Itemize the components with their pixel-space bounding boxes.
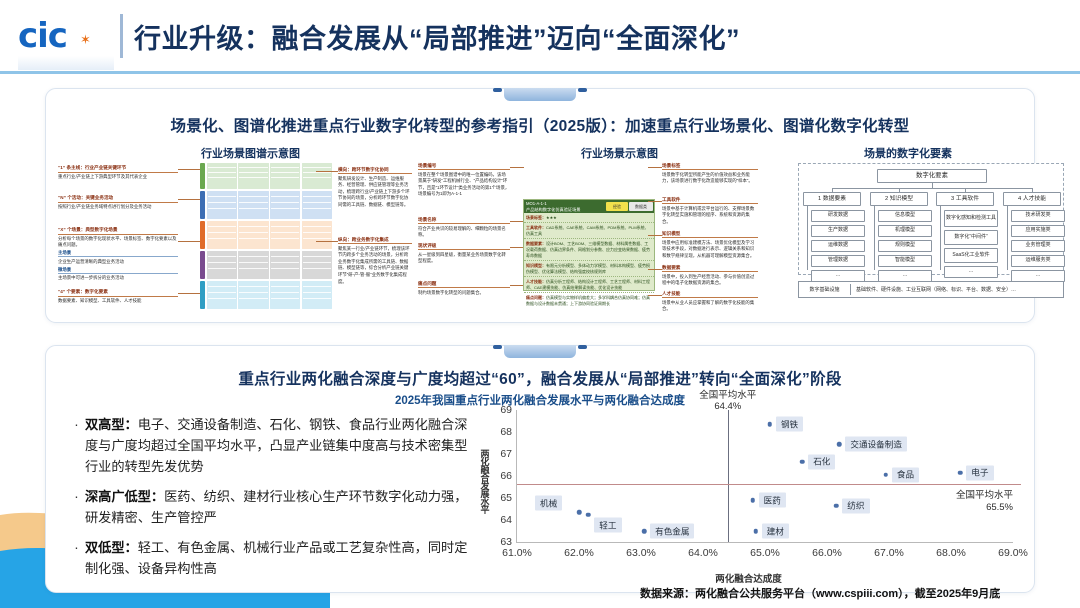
scenario-attr-row: 数据要素：设计BOM、工艺BOM、三维模型数据、材料属性数据、工况载荷数据、仿真… bbox=[524, 239, 654, 261]
chart-data-point[interactable] bbox=[586, 512, 591, 517]
spec-block: “4” 个要素：数字化要素 数据要素、知识模型、工具软件、人才技能 bbox=[58, 289, 178, 304]
scenario-name: 产品结构数字化仿真验证场景 bbox=[526, 207, 580, 213]
chart-data-point[interactable] bbox=[884, 473, 889, 478]
callout-heading: 工具软件 bbox=[662, 197, 758, 204]
bullet-list: · 双高型：电子、交通设备制造、石化、钢铁、食品行业两化融合深度与广度均超过全国… bbox=[68, 414, 473, 588]
figure-scenario-card: 场景编号 场景在整个场景图谱中的唯一位置编码，该场景属于“研发”工程机械行业、“… bbox=[418, 161, 758, 311]
tree-leaf: 研发数据 bbox=[811, 210, 865, 222]
chart-point-label: 电子 bbox=[966, 465, 993, 480]
chart-reference-line-vertical bbox=[728, 410, 729, 542]
callout-body: 场景数字化转型所能产生的价值效益和业务能力，该场景进行数字化改造能够实现的“样本… bbox=[662, 172, 758, 185]
header-divider bbox=[120, 14, 123, 58]
chart-y-tick: 68 bbox=[500, 426, 517, 438]
chart-x-tick: 64.0% bbox=[688, 542, 718, 559]
chart-x-tick: 62.0% bbox=[564, 542, 594, 559]
card-callout-left: 痛点问题 制约场景数字化转型的问题集合。 bbox=[418, 281, 510, 296]
chart-point-label: 钢铁 bbox=[776, 417, 803, 432]
chart-point-label: 机械 bbox=[535, 496, 562, 511]
scenario-attr-row: 痛点问题：仿真模型与实物样机偏差大；多学科耦合仿真协同难；仿真数据与设计数据未贯… bbox=[524, 293, 654, 308]
chart-y-axis-label: 两化融合发展水平 bbox=[478, 426, 492, 536]
tree-root: 数字化要素 bbox=[877, 169, 987, 183]
chart-reference-label-horizontal: 全国平均水平65.5% bbox=[956, 490, 1013, 513]
slide-root: cic ✶ 行业升级：融合发展从“局部推进”迈向“全面深化” 场景化、图谱化推进… bbox=[0, 0, 1080, 608]
note-body: 聚焦某一行业/产业链环节，梳理该环节内跨多个业务活动的场景，分析跨业务数字化集成… bbox=[338, 246, 412, 286]
chart-plot-area: 6364656667686961.0%62.0%63.0%64.0%65.0%6… bbox=[516, 410, 1013, 543]
spec-sub-body: 主场景中可进一步拆分的业务活动 bbox=[58, 275, 178, 281]
bullet-dot: · bbox=[68, 486, 85, 528]
chart-y-tick: 66 bbox=[500, 470, 517, 482]
tree-leaf: 生产数据 bbox=[811, 225, 865, 237]
scenario-chip-experience: 经验 bbox=[606, 202, 628, 211]
card-callout-right: 工具软件 场景中基于计算机或云平台运行的、支撑场景数字化转型实施和管理的程序、系… bbox=[662, 197, 758, 225]
callout-heading: 人才技能 bbox=[662, 291, 758, 298]
bullet-label: 双高型： bbox=[85, 417, 138, 432]
chart-data-point[interactable] bbox=[800, 459, 805, 464]
card-callout-left: 场景编号 场景在整个场景图谱中的唯一位置编码，该场景属于“研发”工程机械行业、“… bbox=[418, 163, 510, 198]
panel1-title: 场景化、图谱化推进重点行业数字化转型的参考指引（2025版）：加速重点行业场景化… bbox=[46, 114, 1034, 136]
scenario-card-header: MO1-A-1-1 产品结构数字化仿真验证场景 经验 数据类 bbox=[524, 200, 654, 213]
tree-leaf: … bbox=[944, 266, 998, 278]
card-callout-right: 场景标签 场景数字化转型所能产生的价值效益和业务能力，该场景进行数字化改造能够实… bbox=[662, 163, 758, 185]
logo-reflection bbox=[18, 56, 114, 70]
tree-leaf: 数字化“中间件” bbox=[944, 230, 998, 245]
chart-y-tick: 65 bbox=[500, 492, 517, 504]
chart-reference-line-horizontal bbox=[517, 484, 1021, 485]
matrix-row bbox=[200, 191, 332, 219]
spec-block: “N” 个活动：关键业务活动 按照行业/产业链业务域特点进行划分及业务活动 bbox=[58, 195, 178, 210]
callout-body: 场景在整个场景图谱中的唯一位置编码，该场景属于“研发”工程机械行业、“产品结构设… bbox=[418, 172, 510, 198]
spec-body: 按照行业/产业链业务域特点进行划分及业务活动 bbox=[58, 204, 178, 210]
bullet-text: 深高广低型：医药、纺织、建材行业核心生产环节数字化动力强，研发精密、生产管控严 bbox=[85, 486, 473, 528]
chart-point-label: 石化 bbox=[808, 454, 835, 469]
chart-x-axis-label: 两化融合达成度 bbox=[476, 571, 1021, 585]
callout-heading: 场景名称 bbox=[418, 217, 510, 224]
tree-leaf: 机理模型 bbox=[878, 225, 932, 237]
panel-tab-icon bbox=[504, 88, 576, 101]
scenario-attr-row: 人才技能：仿真分析工程师、结构设计工程师、工艺工程师、材料工程师、CAE建模技能… bbox=[524, 277, 654, 293]
chart-point-label: 建材 bbox=[762, 524, 789, 539]
scenario-attr-row: 场景标签：★★★ bbox=[524, 213, 654, 223]
callout-body: 符合产业共识的较易理解的、细颗粒的场景名称。 bbox=[418, 226, 510, 239]
note-heading: 横向：跨环节数字化协同 bbox=[338, 167, 412, 174]
tree-leaf: 运维数据 bbox=[811, 240, 865, 252]
spec-heading: “N” 个活动：关键业务活动 bbox=[58, 195, 178, 203]
infra-value: 基础软件、硬件设施、工业互联网（网络、标识、平台、数据、安全）… bbox=[851, 286, 1063, 293]
column-heading-digital-elements: 场景的数字化要素 bbox=[864, 145, 952, 161]
logo-text: cic bbox=[18, 16, 114, 56]
note-body: 聚焦研发设计、生产制造、运维服务、经营管理、供应链管理等业务活动，梳理跨行业/产… bbox=[338, 176, 412, 209]
tree-leaf: 规则模型 bbox=[878, 240, 932, 252]
panel-tab-icon bbox=[504, 345, 576, 358]
data-source-note: 数据来源：两化融合公共服务平台（www.cspiii.com），截至2025年9… bbox=[640, 585, 1000, 601]
chart-x-tick: 61.0% bbox=[502, 542, 532, 559]
atlas-note: 纵向：跨业务数字化集成 聚焦某一行业/产业链环节，梳理该环节内跨多个业务活动的场… bbox=[338, 237, 412, 285]
spec-block: “X” 个场景：典型数字化场景 分析每个场景的数字化现状水平、场景标签、数字化要… bbox=[58, 227, 178, 282]
tree-container: 数字化要素 1 数据要素 2 知识模型 3 工具软件 4 人才技能 研发数据 生… bbox=[798, 163, 1064, 275]
scenario-code: MO1-A-1-1 bbox=[526, 201, 547, 206]
chart-point-label: 纺织 bbox=[842, 498, 869, 513]
scenario-card: MO1-A-1-1 产品结构数字化仿真验证场景 经验 数据类 场景标签：★★★ … bbox=[523, 199, 655, 291]
header-rule bbox=[0, 71, 1080, 74]
chart-x-tick: 63.0% bbox=[626, 542, 656, 559]
callout-body: 场景中，投入到生产经营活动、参与价值创造过程中的电子化数据资源的集合。 bbox=[662, 274, 758, 287]
tree-infrastructure-row: 数字基础设施 基础软件、硬件设施、工业互联网（网络、标识、平台、数据、安全）… bbox=[798, 281, 1064, 298]
tree-leaf: 运维服务类 bbox=[1011, 255, 1065, 267]
chart-y-tick: 69 bbox=[500, 404, 517, 416]
spec-body: 数据要素、知识模型、工具软件、人才技能 bbox=[58, 298, 178, 304]
tree-branch: 4 人才技能 bbox=[1003, 192, 1061, 206]
matrix-row bbox=[200, 221, 332, 249]
tree-leaf: 业务管理类 bbox=[1011, 240, 1065, 252]
spec-sub-heading: 微场景 bbox=[58, 267, 178, 274]
chart-point-label: 轻工 bbox=[594, 518, 621, 533]
bullet-text: 双低型：轻工、有色金属、机械行业产品或工艺复杂性高，同时定制化强、设备异构性高 bbox=[85, 537, 473, 579]
chart-data-point[interactable] bbox=[750, 498, 755, 503]
tree-leaf: 管理数据 bbox=[811, 255, 865, 267]
card-callout-left: 现状评级 从一星级到四星级，衡量某业务场景数字化转型程度。 bbox=[418, 243, 510, 265]
card-callout-right: 人才技能 场景中从业人员应掌握和了解的数字化技能的集合。 bbox=[662, 291, 758, 313]
note-heading: 纵向：跨业务数字化集成 bbox=[338, 237, 412, 244]
card-callout-left: 场景名称 符合产业共识的较易理解的、细颗粒的场景名称。 bbox=[418, 217, 510, 239]
chart-x-tick: 67.0% bbox=[874, 542, 904, 559]
chart-y-tick: 64 bbox=[500, 514, 517, 526]
panel-integration-analysis: 重点行业两化融合深度与广度均超过“60”，融合发展从“局部推进”转向“全面深化”… bbox=[45, 345, 1035, 593]
tree-branch: 1 数据要素 bbox=[803, 192, 861, 206]
spec-sub-body: 企业生产运营清晰的典型业务活动 bbox=[58, 259, 178, 265]
callout-heading: 场景编号 bbox=[418, 163, 510, 170]
bullet-dot: · bbox=[68, 414, 85, 477]
callout-body: 场景中从业人员应掌握和了解的数字化技能的集合。 bbox=[662, 300, 758, 313]
spec-sub-heading: 主场景 bbox=[58, 250, 178, 257]
chart-x-tick: 66.0% bbox=[812, 542, 842, 559]
tree-leaf: 应用实施类 bbox=[1011, 225, 1065, 237]
list-item: · 深高广低型：医药、纺织、建材行业核心生产环节数字化动力强，研发精密、生产管控… bbox=[68, 486, 473, 528]
bullet-label: 双低型： bbox=[85, 540, 138, 555]
chart-data-point[interactable] bbox=[958, 470, 963, 475]
chart-data-point[interactable] bbox=[577, 510, 582, 515]
list-item: · 双高型：电子、交通设备制造、石化、钢铁、食品行业两化融合深度与广度均超过全国… bbox=[68, 414, 473, 477]
panel-scenario-guideline: 场景化、图谱化推进重点行业数字化转型的参考指引（2025版）：加速重点行业场景化… bbox=[45, 88, 1035, 323]
tree-leaf: 信息模型 bbox=[878, 210, 932, 222]
tree-branch: 3 工具软件 bbox=[936, 192, 994, 206]
callout-body: 制约场景数字化转型的问题集合。 bbox=[418, 290, 510, 297]
matrix-row bbox=[200, 163, 332, 189]
atlas-note: 横向：跨环节数字化协同 聚焦研发设计、生产制造、运维服务、经营管理、供应链管理等… bbox=[338, 167, 412, 209]
chart-point-label: 交通设备制造 bbox=[845, 437, 907, 452]
matrix-row bbox=[200, 251, 332, 279]
bullet-dot: · bbox=[68, 537, 85, 579]
page-title: 行业升级：融合发展从“局部推进”迈向“全面深化” bbox=[134, 17, 740, 56]
atlas-matrix bbox=[200, 163, 332, 309]
chart-x-tick: 65.0% bbox=[750, 542, 780, 559]
scenario-attr-row: 工具软件：CAD系统、CAE系统、CAM系统、PDM系统、PLM系统、仿真工具 bbox=[524, 223, 654, 239]
callout-heading: 知识模型 bbox=[662, 231, 758, 238]
chart-x-tick: 69.0% bbox=[998, 542, 1028, 559]
chart-data-point[interactable] bbox=[834, 503, 839, 508]
list-item: · 双低型：轻工、有色金属、机械行业产品或工艺复杂性高，同时定制化强、设备异构性… bbox=[68, 537, 473, 579]
spec-heading: “4” 个要素：数字化要素 bbox=[58, 289, 178, 297]
page-header: cic ✶ 行业升级：融合发展从“局部推进”迈向“全面深化” bbox=[0, 0, 1080, 72]
card-callout-right: 知识模型 场景中应用标准建模方法、场景优化模型及学习等技术手段，对数据进行表示、… bbox=[662, 231, 758, 259]
card-callout-right: 数据要素 场景中，投入到生产经营活动、参与价值创造过程中的电子化数据资源的集合。 bbox=[662, 265, 758, 287]
chart-point-label: 有色金属 bbox=[650, 524, 694, 539]
tree-leaf: 技术研发类 bbox=[1011, 210, 1065, 222]
chart-data-point[interactable] bbox=[642, 529, 647, 534]
cic-logo: cic ✶ bbox=[18, 16, 114, 58]
callout-body: 场景中应用标准建模方法、场景优化模型及学习等技术手段，对数据进行表示、逻辑关系和… bbox=[662, 240, 758, 260]
figure-scenario-atlas: “1” 条主线：行业产业链关键环节 重点行业/产业链上下游典型环节及其代表企业 … bbox=[58, 161, 408, 311]
matrix-row bbox=[200, 281, 332, 309]
column-heading-scenario-atlas: 行业场景图谱示意图 bbox=[201, 145, 300, 161]
spec-heading: “1” 条主线：行业产业链关键环节 bbox=[58, 165, 178, 173]
callout-heading: 场景标签 bbox=[662, 163, 758, 170]
bullet-label: 深高广低型： bbox=[85, 489, 164, 504]
star-icon: ✶ bbox=[80, 32, 91, 48]
chart-y-tick: 67 bbox=[500, 448, 517, 460]
tree-leaf: 智能模型 bbox=[878, 255, 932, 267]
scenario-attr-row: 知识模型：有限元分析模型、多体动力学模型、材料本构模型、疲劳损伤模型、优化算法模… bbox=[524, 261, 654, 277]
callout-body: 从一星级到四星级，衡量某业务场景数字化转型程度。 bbox=[418, 252, 510, 265]
spec-body: 重点行业/产业链上下游典型环节及其代表企业 bbox=[58, 174, 178, 180]
scatter-chart: 两化融合发展水平 6364656667686961.0%62.0%63.0%64… bbox=[476, 404, 1021, 584]
callout-heading: 痛点问题 bbox=[418, 281, 510, 288]
chart-reference-label-vertical: 全国平均水平64.4% bbox=[699, 390, 756, 413]
chart-data-point[interactable] bbox=[837, 442, 842, 447]
chart-point-label: 食品 bbox=[892, 467, 919, 482]
chart-x-tick: 68.0% bbox=[936, 542, 966, 559]
spec-block: “1” 条主线：行业产业链关键环节 重点行业/产业链上下游典型环节及其代表企业 bbox=[58, 165, 178, 180]
column-heading-scenario-diagram: 行业场景示意图 bbox=[581, 145, 658, 161]
spec-heading: “X” 个场景：典型数字化场景 bbox=[58, 227, 178, 235]
figure-digital-elements-tree: 数字化要素 1 数据要素 2 知识模型 3 工具软件 4 人才技能 研发数据 生… bbox=[786, 161, 1076, 311]
tree-branch: 2 知识模型 bbox=[870, 192, 928, 206]
chart-point-label: 医药 bbox=[759, 493, 786, 508]
infra-key: 数字基础设施 bbox=[799, 284, 851, 295]
scenario-chip-data: 数据类 bbox=[629, 202, 653, 211]
chart-data-point[interactable] bbox=[768, 422, 773, 427]
tree-leaf: SaaS化工业软件 bbox=[944, 248, 998, 263]
callout-heading: 数据要素 bbox=[662, 265, 758, 272]
callout-heading: 现状评级 bbox=[418, 243, 510, 250]
callout-body: 场景中基于计算机或云平台运行的、支撑场景数字化转型实施和管理的程序、系统和资源的… bbox=[662, 206, 758, 226]
spec-body: 分析每个场景的数字化现状水平、场景标签、数字化要素以及痛点问题。 bbox=[58, 236, 178, 249]
tree-leaf: 数字化感知和检测工具 bbox=[944, 210, 998, 227]
panel2-title: 重点行业两化融合深度与广度均超过“60”，融合发展从“局部推进”转向“全面深化”… bbox=[46, 367, 1034, 389]
chart-data-point[interactable] bbox=[753, 529, 758, 534]
bullet-text: 双高型：电子、交通设备制造、石化、钢铁、食品行业两化融合深度与广度均超过全国平均… bbox=[85, 414, 473, 477]
